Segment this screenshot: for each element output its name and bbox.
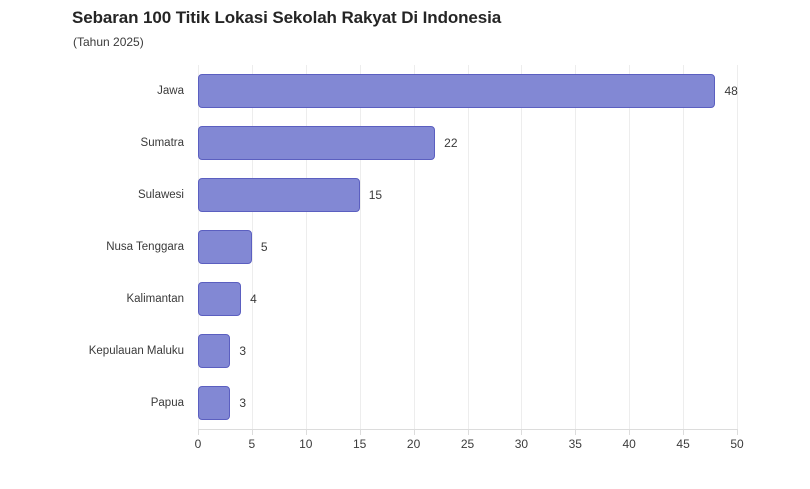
bar-sulawesi[interactable] xyxy=(198,178,360,212)
bar-value-label: 15 xyxy=(369,178,382,212)
chart-subtitle: (Tahun 2025) xyxy=(73,35,144,49)
category-label-nusa-tenggara: Nusa Tenggara xyxy=(0,230,184,264)
category-label-sulawesi: Sulawesi xyxy=(0,178,184,212)
x-tick-label: 45 xyxy=(663,437,703,451)
bar-value-label: 22 xyxy=(444,126,457,160)
x-tick-label: 25 xyxy=(448,437,488,451)
x-tick-label: 0 xyxy=(178,437,218,451)
bar-row[interactable]: 5 xyxy=(198,230,810,264)
bar-row[interactable]: 48 xyxy=(198,74,810,108)
bar-nusa-tenggara[interactable] xyxy=(198,230,252,264)
x-tick-label: 35 xyxy=(555,437,595,451)
bar-value-label: 4 xyxy=(250,282,257,316)
bar-row[interactable]: 4 xyxy=(198,282,810,316)
category-label-kepulauan-maluku: Kepulauan Maluku xyxy=(0,334,184,368)
category-label-kalimantan: Kalimantan xyxy=(0,282,184,316)
bar-jawa[interactable] xyxy=(198,74,715,108)
x-tick-mark xyxy=(683,430,684,435)
bar-kalimantan[interactable] xyxy=(198,282,241,316)
x-tick-mark xyxy=(252,430,253,435)
chart-title: Sebaran 100 Titik Lokasi Sekolah Rakyat … xyxy=(72,8,501,28)
bar-value-label: 48 xyxy=(724,74,737,108)
x-tick-mark xyxy=(198,430,199,435)
bar-row[interactable]: 3 xyxy=(198,386,810,420)
x-tick-mark xyxy=(575,430,576,435)
x-tick-label: 15 xyxy=(340,437,380,451)
category-label-jawa: Jawa xyxy=(0,74,184,108)
bar-row[interactable]: 15 xyxy=(198,178,810,212)
bar-kepulauan-maluku[interactable] xyxy=(198,334,230,368)
x-tick-mark xyxy=(306,430,307,435)
x-tick-label: 30 xyxy=(501,437,541,451)
x-tick-label: 40 xyxy=(609,437,649,451)
x-tick-mark xyxy=(360,430,361,435)
bar-row[interactable]: 22 xyxy=(198,126,810,160)
category-label-papua: Papua xyxy=(0,386,184,420)
bar-chart: Sebaran 100 Titik Lokasi Sekolah Rakyat … xyxy=(0,0,810,489)
bar-value-label: 5 xyxy=(261,230,268,264)
x-tick-mark xyxy=(629,430,630,435)
x-tick-mark xyxy=(414,430,415,435)
bar-sumatra[interactable] xyxy=(198,126,435,160)
bar-value-label: 3 xyxy=(239,334,246,368)
x-tick-label: 20 xyxy=(394,437,434,451)
x-tick-label: 50 xyxy=(717,437,757,451)
x-tick-label: 5 xyxy=(232,437,272,451)
bar-row[interactable]: 3 xyxy=(198,334,810,368)
x-tick-mark xyxy=(468,430,469,435)
x-tick-mark xyxy=(737,430,738,435)
x-tick-label: 10 xyxy=(286,437,326,451)
category-label-sumatra: Sumatra xyxy=(0,126,184,160)
x-tick-mark xyxy=(521,430,522,435)
bar-papua[interactable] xyxy=(198,386,230,420)
bar-value-label: 3 xyxy=(239,386,246,420)
